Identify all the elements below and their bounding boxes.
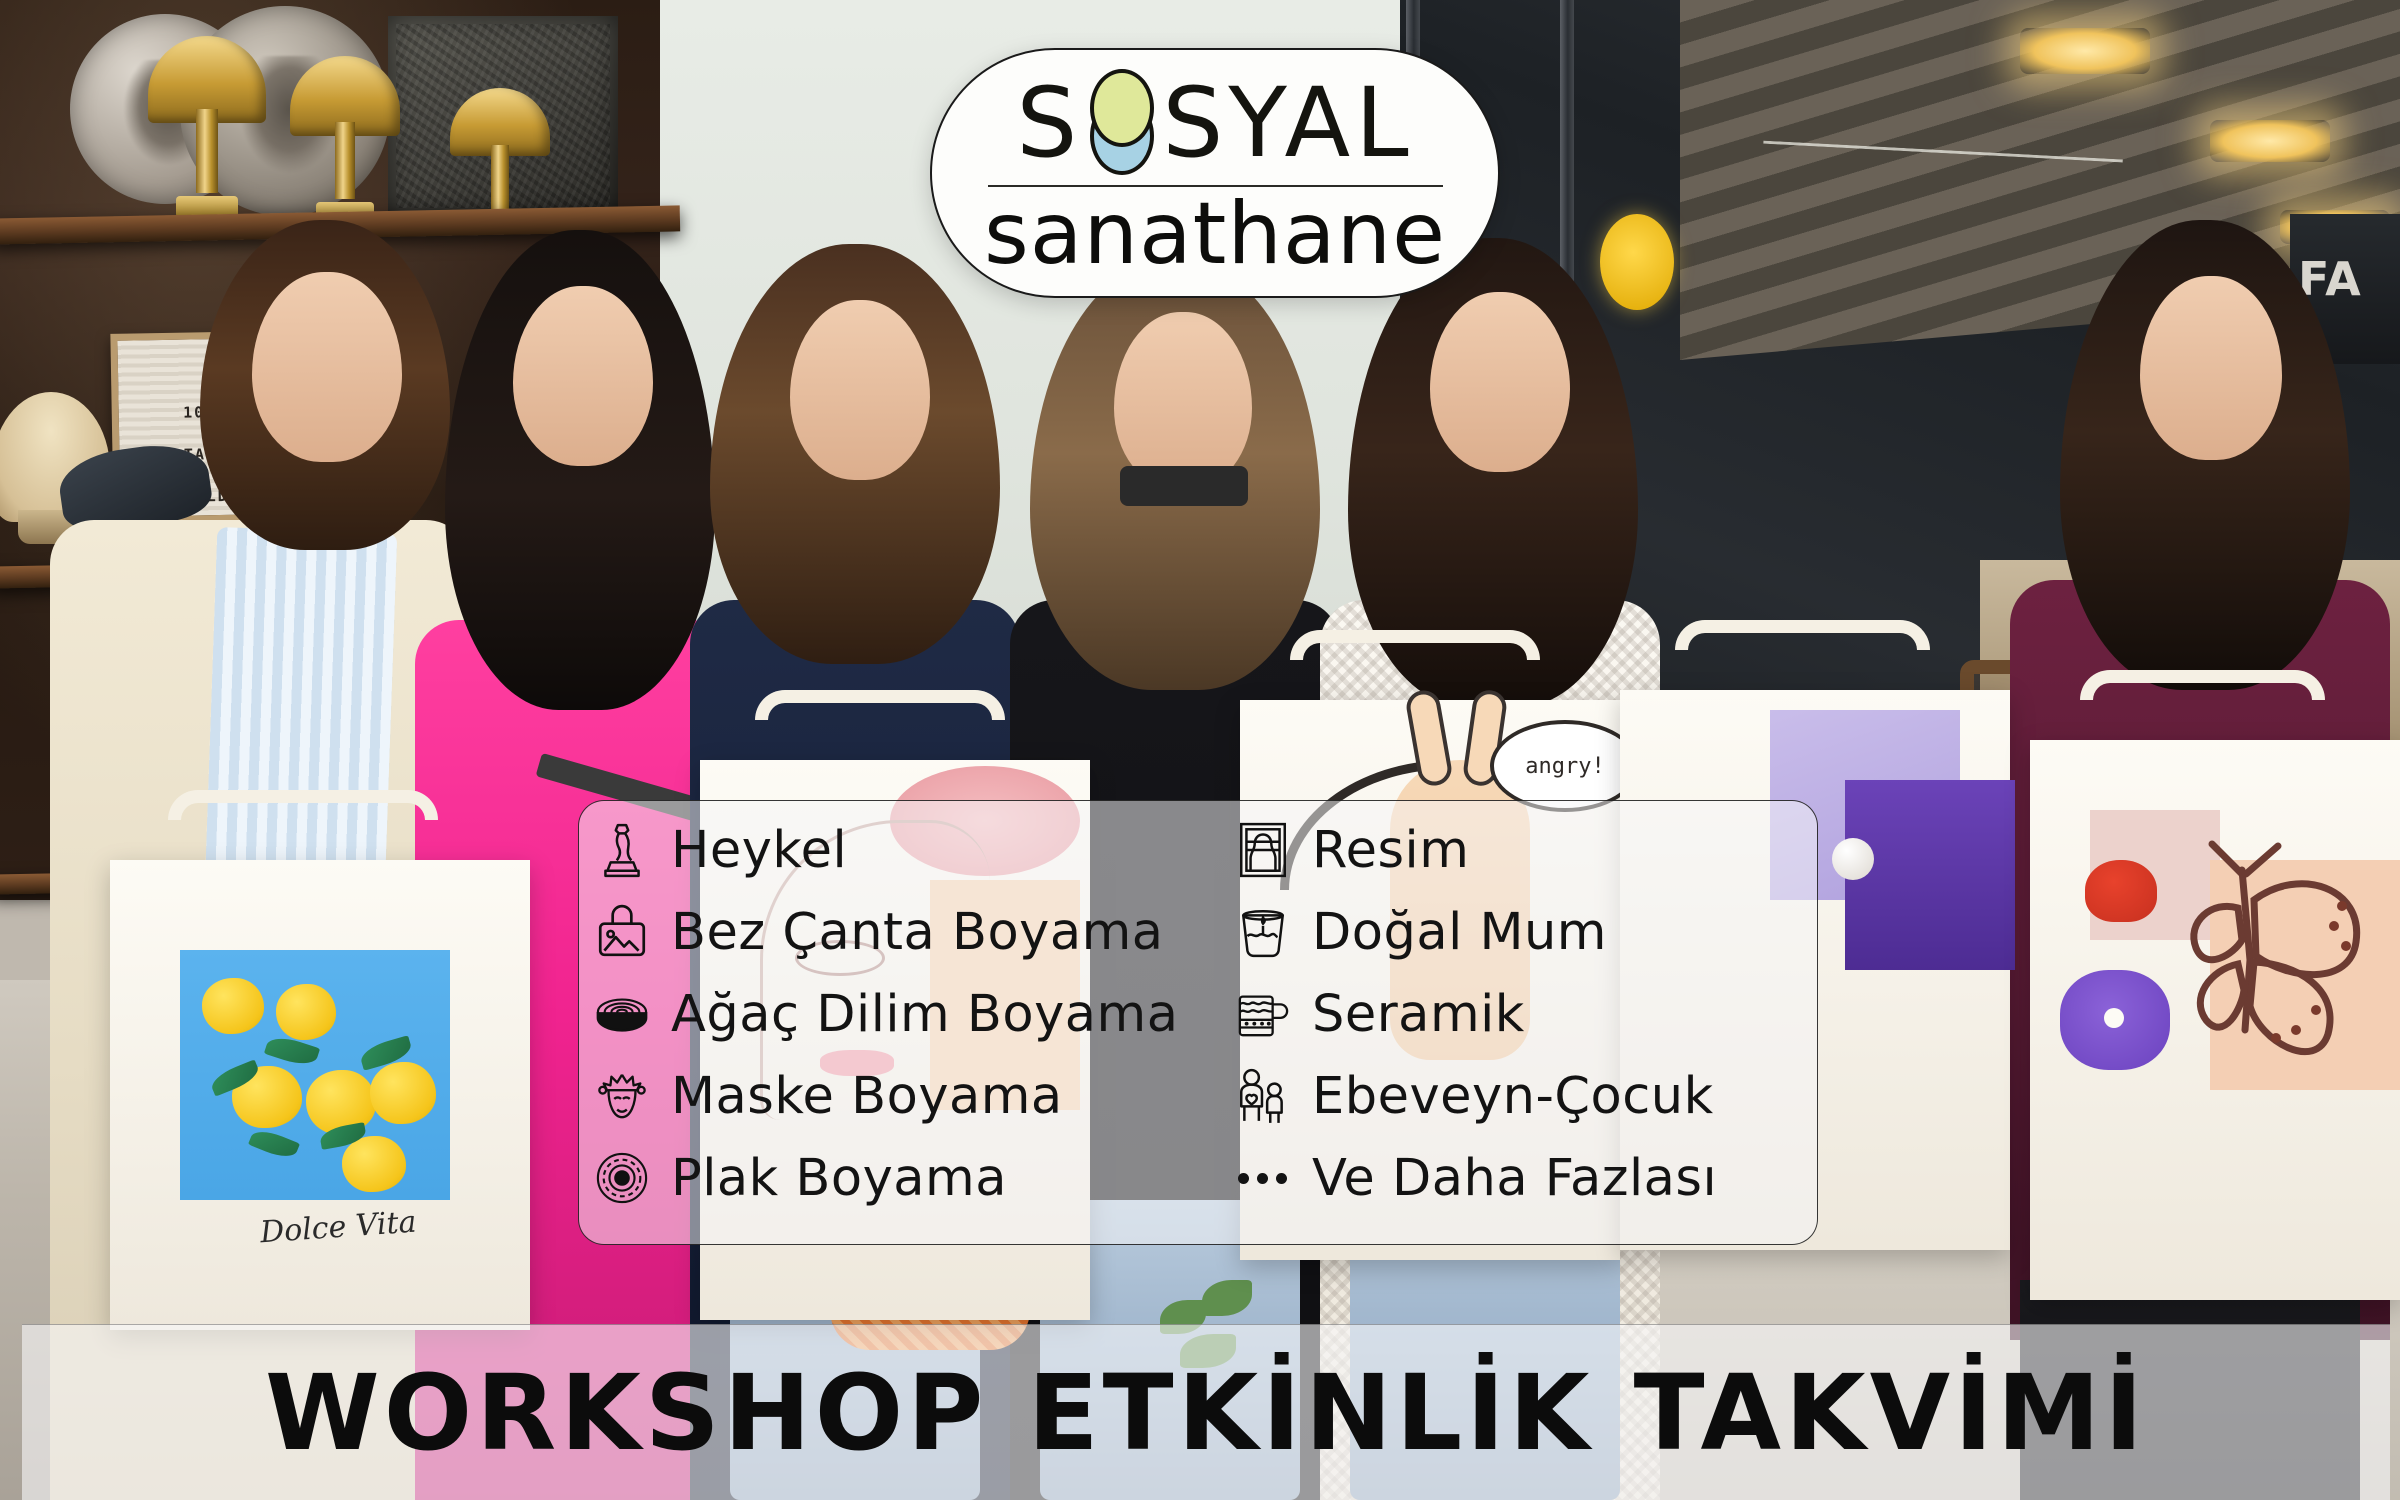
banner-title: WORKSHOP ETKİNLİK TAKVİMİ [265, 1352, 2147, 1474]
gold-lamp [148, 36, 266, 218]
tote-bag-lemons: Dolce Vita [110, 860, 530, 1330]
list-item-label: Doğal Mum [1312, 903, 1607, 962]
list-item[interactable]: Heykel [595, 809, 1218, 891]
logo-word-suffix: SYAL [1162, 75, 1413, 171]
tote-signature: Dolce Vita [259, 1205, 418, 1251]
list-item[interactable]: Doğal Mum [1236, 891, 1817, 973]
butterfly-illustration [2150, 830, 2380, 1080]
tote-bag-icon [595, 903, 649, 961]
list-item[interactable]: Ebeveyn-Çocuk [1236, 1055, 1817, 1137]
brand-logo: S SYAL sanathane [930, 48, 1500, 298]
tote-bag-butterfly [2030, 740, 2400, 1300]
jester-mask-icon [595, 1067, 649, 1125]
wood-slice-icon [595, 985, 649, 1043]
poster-image: FA BİZ 100 BİN TAKİPÇİ OLDUK [0, 0, 2400, 1500]
gold-lamp [290, 56, 400, 222]
logo-wordmark: S SYAL [1016, 69, 1413, 177]
list-item-label: Seramik [1312, 985, 1525, 1044]
list-item-label: Ebeveyn-Çocuk [1312, 1067, 1714, 1126]
parent-child-icon [1236, 1067, 1290, 1125]
candle-glass-icon [1236, 903, 1290, 961]
logo-word-prefix: S [1016, 75, 1082, 171]
ellipsis-icon [1236, 1149, 1290, 1207]
speech-bubble: angry! [1490, 720, 1640, 812]
overlapping-circles-icon [1084, 69, 1160, 177]
list-item[interactable]: Plak Boyama [595, 1137, 1218, 1219]
framed-painting-icon [1236, 821, 1290, 879]
list-item[interactable]: Ve Daha Fazlası [1236, 1137, 1817, 1219]
list-item-label: Heykel [671, 821, 847, 880]
workshop-list-left-column: Heykel Bez Çanta Boyama [579, 809, 1218, 1244]
ceiling-light [2210, 120, 2330, 162]
ceramic-mug-icon [1236, 985, 1290, 1043]
list-item-label: Ve Daha Fazlası [1312, 1149, 1717, 1208]
list-item[interactable]: Maske Boyama [595, 1055, 1218, 1137]
list-item[interactable]: Ağaç Dilim Boyama [595, 973, 1218, 1055]
list-item-label: Ağaç Dilim Boyama [671, 985, 1179, 1044]
list-item[interactable]: Seramik [1236, 973, 1817, 1055]
list-item[interactable]: Resim [1236, 809, 1817, 891]
workshop-list-panel: Heykel Bez Çanta Boyama [578, 800, 1818, 1245]
list-item-label: Bez Çanta Boyama [671, 903, 1164, 962]
workshop-list-right-column: Resim Doğal Mum [1218, 809, 1817, 1244]
vinyl-record-icon [595, 1149, 649, 1207]
list-item-label: Resim [1312, 821, 1469, 880]
lemon-painting [180, 950, 450, 1200]
ceiling-light [2020, 28, 2150, 74]
list-item-label: Maske Boyama [671, 1067, 1063, 1126]
logo-subtitle: sanathane [984, 191, 1446, 277]
list-item[interactable]: Bez Çanta Boyama [595, 891, 1218, 973]
statue-icon [595, 821, 649, 879]
list-item-label: Plak Boyama [671, 1149, 1007, 1208]
bottom-banner: WORKSHOP ETKİNLİK TAKVİMİ [22, 1324, 2390, 1500]
